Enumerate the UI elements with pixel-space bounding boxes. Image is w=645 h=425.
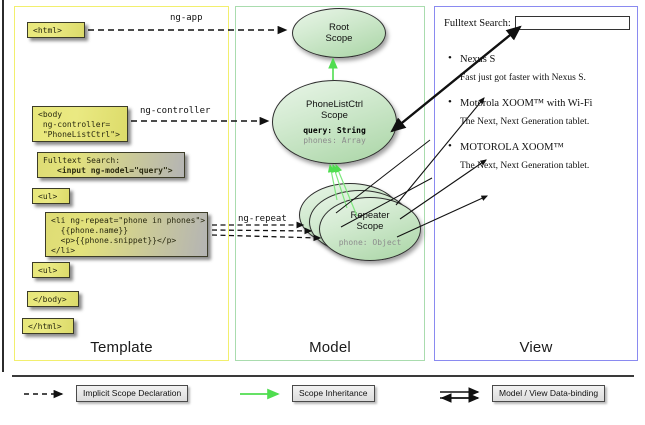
legend-item-scope-inheritance: Scope Inheritance: [238, 385, 375, 402]
list-item: Motorola XOOM™ with Wi-Fi The Next, Next…: [444, 96, 630, 130]
view-search-row: Fulltext Search:: [444, 16, 630, 30]
repeater-scope-prop-phone: phone: Object: [339, 238, 402, 248]
view-search-input[interactable]: [515, 16, 630, 30]
view-panel-content: Fulltext Search: Nexus S Fast just got f…: [444, 16, 630, 184]
code-box-ul-close: <ul>: [32, 262, 70, 278]
diagram-canvas: Template Model View <html> <body ng-cont…: [0, 0, 645, 425]
legend-label-model-view-data-binding: Model / View Data-binding: [492, 385, 605, 402]
phone-name: Motorola XOOM™ with Wi-Fi: [444, 96, 630, 111]
legend-item-model-view-data-binding: Model / View Data-binding: [438, 385, 605, 402]
scope-ellipse-root: Root Scope: [292, 8, 386, 58]
phonelistctrl-scope-title-line1: PhoneListCtrl: [306, 99, 363, 110]
code-box-body-close: </body>: [27, 291, 79, 307]
list-item: Nexus S Fast just got faster with Nexus …: [444, 52, 630, 86]
repeater-scope-title-line2: Scope: [357, 221, 384, 232]
column-label-model: Model: [236, 339, 424, 356]
column-label-template: Template: [15, 339, 228, 356]
legend-swatch-dashed-arrow: [22, 387, 70, 401]
phone-snippet: Fast just got faster with Nexus S.: [444, 71, 630, 86]
column-label-view: View: [435, 339, 637, 356]
view-phone-list: Nexus S Fast just got faster with Nexus …: [444, 52, 630, 174]
legend-divider: [12, 375, 634, 377]
scope-ellipse-repeater: Repeater Scope phone: Object: [319, 197, 421, 261]
column-model: Model: [235, 6, 425, 361]
phone-name: Nexus S: [444, 52, 630, 67]
phonelistctrl-scope-prop-query: query: String: [303, 126, 366, 136]
list-item: MOTOROLA XOOM™ The Next, Next Generation…: [444, 140, 630, 174]
root-scope-title-line2: Scope: [326, 33, 353, 44]
column-template: Template: [14, 6, 229, 361]
code-box-html-open: <html>: [27, 22, 85, 38]
phone-name: MOTOROLA XOOM™: [444, 140, 630, 155]
legend: Implicit Scope Declaration Scope Inherit…: [0, 383, 645, 413]
legend-swatch-green-arrow: [238, 387, 286, 401]
view-search-label: Fulltext Search:: [444, 18, 511, 29]
phone-snippet: The Next, Next Generation tablet.: [444, 159, 630, 174]
left-rail: [2, 0, 4, 372]
wire-label-ng-controller: ng-controller: [140, 106, 210, 116]
code-box-body-controller: <body ng-controller= "PhoneListCtrl">: [32, 106, 128, 142]
legend-swatch-double-arrow: [438, 387, 486, 401]
code-box-ul-open: <ul>: [32, 188, 70, 204]
phonelistctrl-scope-prop-phones: phones: Array: [303, 136, 366, 146]
root-scope-title-line1: Root: [329, 22, 349, 33]
legend-label-scope-inheritance: Scope Inheritance: [292, 385, 375, 402]
legend-item-implicit-scope-declaration: Implicit Scope Declaration: [22, 385, 188, 402]
code-box-html-close: </html>: [22, 318, 74, 334]
scope-ellipse-phonelistctrl: PhoneListCtrl Scope query: String phones…: [272, 80, 397, 164]
phone-snippet: The Next, Next Generation tablet.: [444, 115, 630, 130]
code-box-fulltext-search: Fulltext Search:<input ng-model="query">: [37, 152, 185, 178]
legend-label-implicit-scope-declaration: Implicit Scope Declaration: [76, 385, 188, 402]
phonelistctrl-scope-title-line2: Scope: [321, 110, 348, 121]
wire-label-ng-app: ng-app: [170, 13, 203, 23]
code-box-li-ng-repeat: <li ng-repeat="phone in phones"> {{phone…: [45, 212, 208, 257]
repeater-scope-title-line1: Repeater: [350, 210, 389, 221]
fulltext-search-label: Fulltext Search:: [43, 156, 120, 165]
fulltext-search-input-code: <input ng-model="query">: [43, 166, 173, 175]
wire-label-ng-repeat: ng-repeat: [238, 214, 287, 224]
